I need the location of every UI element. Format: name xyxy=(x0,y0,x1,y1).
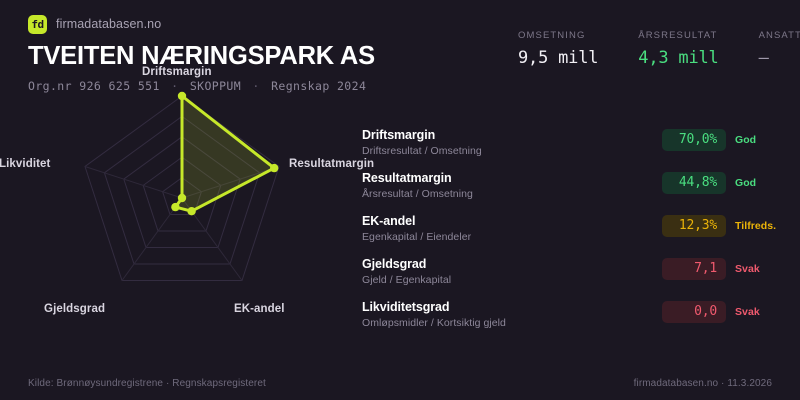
radar-axis-label-gjeldsgrad: Gjeldsgrad xyxy=(44,303,105,315)
metric-row-ek-andel: EK-andel Egenkapital / Eiendeler 12,3% T… xyxy=(362,214,787,257)
metric-right: 12,3% Tilfreds. xyxy=(662,215,787,237)
metric-row-driftsmargin: Driftsmargin Driftsresultat / Omsetning … xyxy=(362,128,787,171)
metric-value-badge: 44,8% xyxy=(662,172,726,194)
status-badge: Svak xyxy=(735,263,787,275)
metric-value-badge: 0,0 xyxy=(662,301,726,323)
metric-text: EK-andel Egenkapital / Eiendeler xyxy=(362,214,652,243)
metric-text: Driftsmargin Driftsresultat / Omsetning xyxy=(362,128,652,157)
kpi-strip: OMSETNING 9,5 mill ÅRSRESULTAT 4,3 mill … xyxy=(518,30,800,68)
metric-name: Resultatmargin xyxy=(362,171,652,185)
metric-row-resultatmargin: Resultatmargin Årsresultat / Omsetning 4… xyxy=(362,171,787,214)
metric-value-badge: 12,3% xyxy=(662,215,726,237)
metric-value-badge: 7,1 xyxy=(662,258,726,280)
kpi-arsresultat-value: 4,3 mill xyxy=(638,48,718,68)
header: fd firmadatabasen.no TVEITEN NÆRINGSPARK… xyxy=(28,14,488,93)
radar-axis-label-ek-andel: EK-andel xyxy=(234,303,285,315)
status-badge: God xyxy=(735,177,787,189)
footer-source: Kilde: Brønnøysundregistrene · Regnskaps… xyxy=(28,378,266,389)
metric-formula: Driftsresultat / Omsetning xyxy=(362,145,652,157)
kpi-ansatte: ANSATTE – xyxy=(759,30,800,68)
metric-name: Driftsmargin xyxy=(362,128,652,142)
radar-chart: Driftsmargin Resultatmargin EK-andel Gje… xyxy=(10,88,360,343)
metric-right: 0,0 Svak xyxy=(662,301,787,323)
brand[interactable]: fd firmadatabasen.no xyxy=(28,14,488,34)
metric-value-badge: 70,0% xyxy=(662,129,726,151)
metric-row-likviditetsgrad: Likviditetsgrad Omløpsmidler / Kortsikti… xyxy=(362,300,787,343)
firmadatabasen-logo-icon: fd xyxy=(28,15,47,34)
radar-axis-label-driftsmargin: Driftsmargin xyxy=(142,66,212,78)
kpi-ansatte-label: ANSATTE xyxy=(759,30,800,41)
status-badge: Tilfreds. xyxy=(735,220,787,232)
metric-text: Resultatmargin Årsresultat / Omsetning xyxy=(362,171,652,200)
metric-name: Likviditetsgrad xyxy=(362,300,652,314)
kpi-omsetning-value: 9,5 mill xyxy=(518,48,598,68)
status-badge: Svak xyxy=(735,306,787,318)
brand-site-label: firmadatabasen.no xyxy=(56,17,161,31)
metric-formula: Årsresultat / Omsetning xyxy=(362,188,652,200)
kpi-omsetning-label: OMSETNING xyxy=(518,30,598,41)
metric-text: Gjeldsgrad Gjeld / Egenkapital xyxy=(362,257,652,286)
metric-row-gjeldsgrad: Gjeldsgrad Gjeld / Egenkapital 7,1 Svak xyxy=(362,257,787,300)
metric-name: Gjeldsgrad xyxy=(362,257,652,271)
radar-axis-label-likviditet: Likviditet xyxy=(0,158,50,170)
page-title: TVEITEN NÆRINGSPARK AS xyxy=(28,42,488,71)
status-badge: God xyxy=(735,134,787,146)
footer-stamp: firmadatabasen.no · 11.3.2026 xyxy=(634,378,772,389)
metric-formula: Omløpsmidler / Kortsiktig gjeld xyxy=(362,317,652,329)
footer: Kilde: Brønnøysundregistrene · Regnskaps… xyxy=(0,366,800,400)
metrics-list: Driftsmargin Driftsresultat / Omsetning … xyxy=(362,128,787,343)
metric-right: 44,8% God xyxy=(662,172,787,194)
metric-name: EK-andel xyxy=(362,214,652,228)
metric-right: 70,0% God xyxy=(662,129,787,151)
company-key-figures-card: fd firmadatabasen.no TVEITEN NÆRINGSPARK… xyxy=(0,0,800,400)
metric-right: 7,1 Svak xyxy=(662,258,787,280)
kpi-arsresultat: ÅRSRESULTAT 4,3 mill xyxy=(638,30,718,68)
metric-text: Likviditetsgrad Omløpsmidler / Kortsikti… xyxy=(362,300,652,329)
kpi-omsetning: OMSETNING 9,5 mill xyxy=(518,30,598,68)
kpi-ansatte-value: – xyxy=(759,48,800,68)
kpi-arsresultat-label: ÅRSRESULTAT xyxy=(638,30,718,41)
metric-formula: Gjeld / Egenkapital xyxy=(362,274,652,286)
metric-formula: Egenkapital / Eiendeler xyxy=(362,231,652,243)
